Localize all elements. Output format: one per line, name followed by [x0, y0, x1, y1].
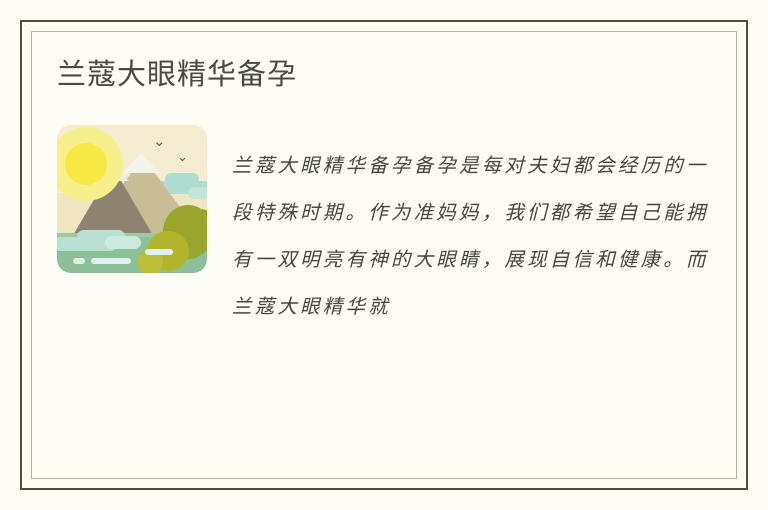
page-title: 兰蔻大眼精华备孕	[57, 57, 709, 93]
sun-icon	[65, 143, 107, 185]
article-content: 兰蔻大眼精华备孕 ⌄ ⌄	[31, 31, 737, 479]
water-streak	[73, 258, 85, 264]
water-streak	[145, 249, 173, 255]
landscape-illustration: ⌄ ⌄	[57, 125, 207, 273]
bird-icon: ⌄	[177, 151, 188, 164]
article-thumbnail: ⌄ ⌄	[57, 125, 207, 273]
bird-icon: ⌄	[153, 134, 166, 149]
article-paragraph: 兰蔻大眼精华备孕备孕是每对夫妇都会经历的一段特殊时期。作为准妈妈，我们都希望自己…	[232, 121, 709, 331]
cloud-icon	[105, 236, 141, 249]
article-page: 兰蔻大眼精华备孕 ⌄ ⌄	[0, 0, 768, 510]
article-body: ⌄ ⌄ 兰蔻大眼精华备孕备孕是每对夫妇都会经历的一段特殊时期。	[57, 121, 709, 331]
water-streak	[91, 258, 131, 264]
